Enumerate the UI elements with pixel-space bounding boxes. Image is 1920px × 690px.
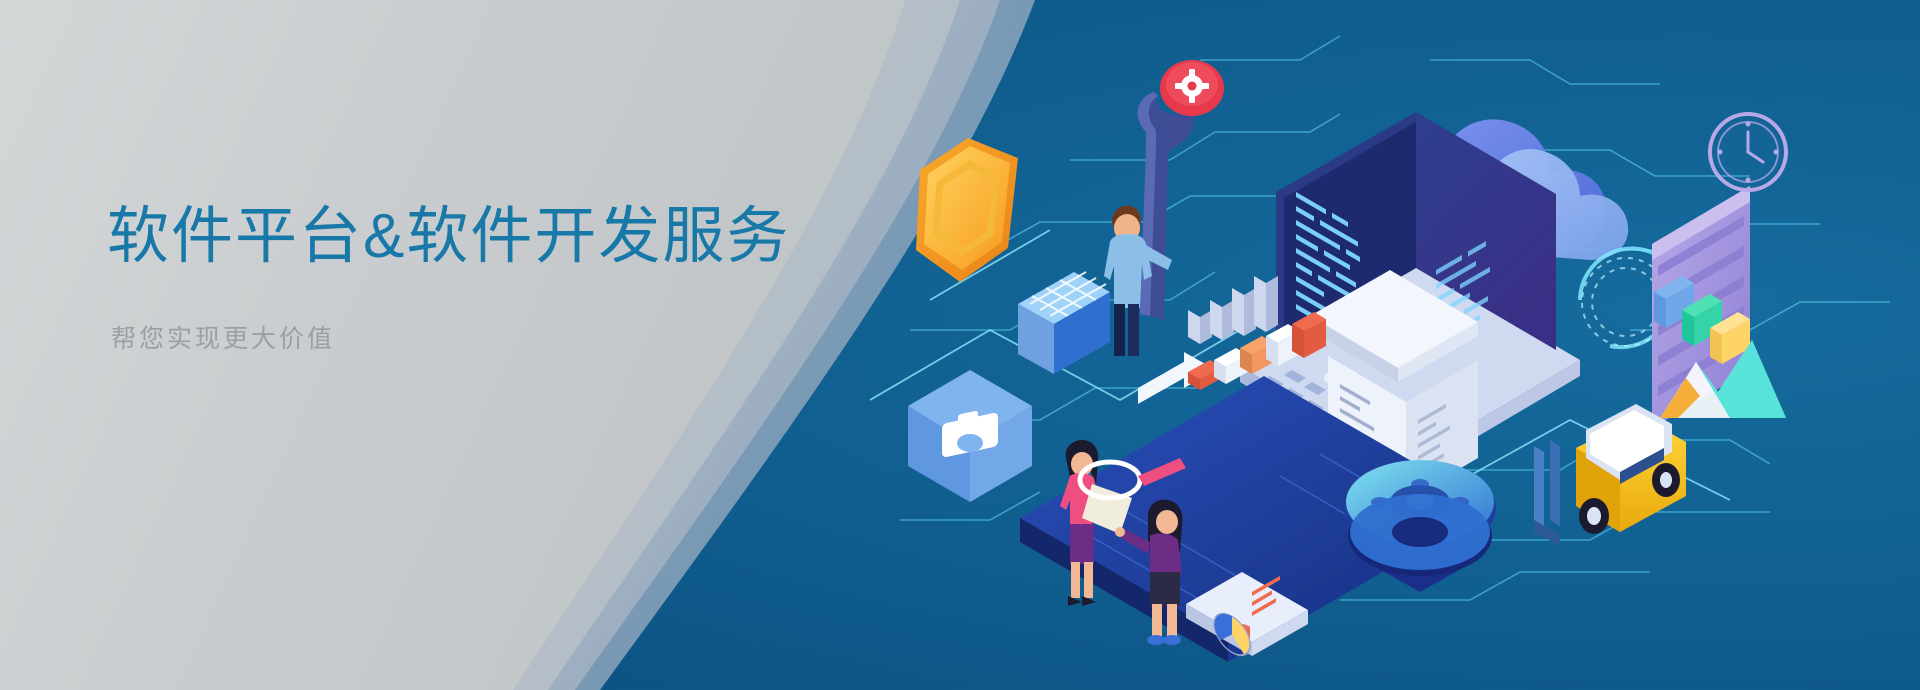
forklift-icon <box>1534 404 1686 546</box>
page-title: 软件平台&软件开发服务 <box>107 204 867 271</box>
gear-badge-icon <box>1160 60 1224 116</box>
wrench-icon <box>1138 92 1194 320</box>
banner-copy: 软件平台&软件开发服务 帮您实现更大价值 <box>107 204 867 355</box>
clock-icon <box>1710 114 1786 190</box>
banner-root: 软件平台&软件开发服务 帮您实现更大价值 <box>0 0 1920 690</box>
hero-illustration <box>870 0 1920 690</box>
camera-icon <box>908 370 1032 502</box>
solar-panel <box>1018 272 1110 374</box>
shield-icon <box>916 138 1018 282</box>
page-subtitle: 帮您实现更大价值 <box>111 319 867 355</box>
